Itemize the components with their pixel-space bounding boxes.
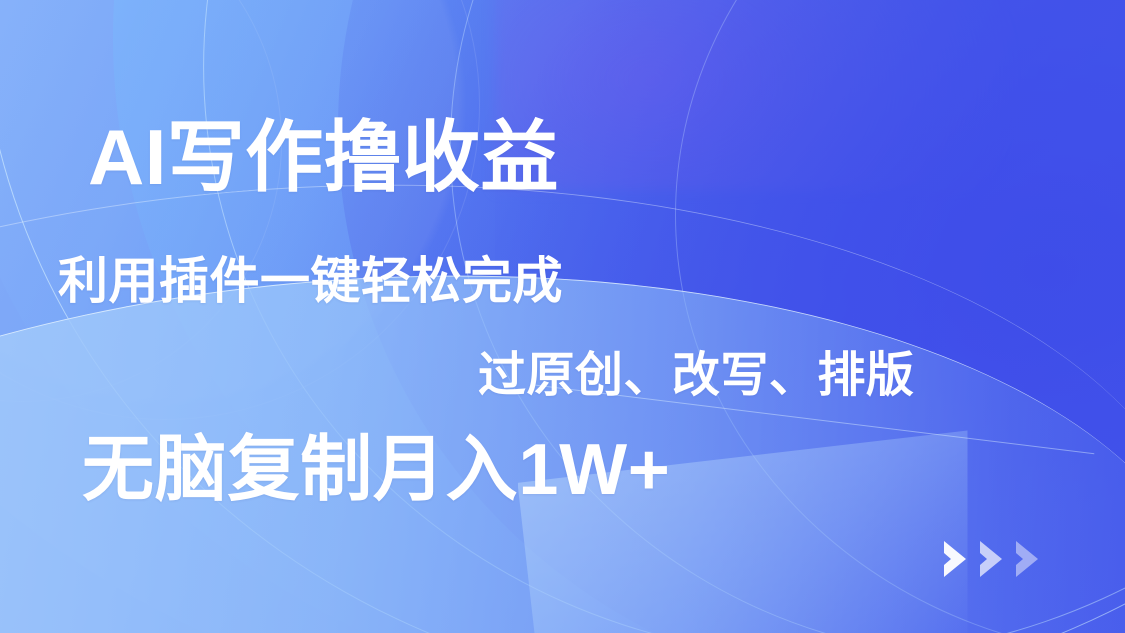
poster-feature-line: 过原创、改写、排版	[478, 352, 914, 400]
poster-subheadline: 利用插件一键轻松完成	[58, 256, 563, 306]
chevron-right-icon	[940, 537, 974, 581]
chevron-right-icon	[976, 537, 1010, 581]
chevron-right-icon	[1012, 537, 1046, 581]
chevron-group	[940, 536, 1046, 582]
poster-payoff-line: 无脑复制月入1W+	[82, 434, 671, 506]
poster-headline: AI写作撸收益	[88, 118, 559, 196]
promo-poster: AI写作撸收益 利用插件一键轻松完成 过原创、改写、排版 无脑复制月入1W+	[0, 0, 1125, 633]
